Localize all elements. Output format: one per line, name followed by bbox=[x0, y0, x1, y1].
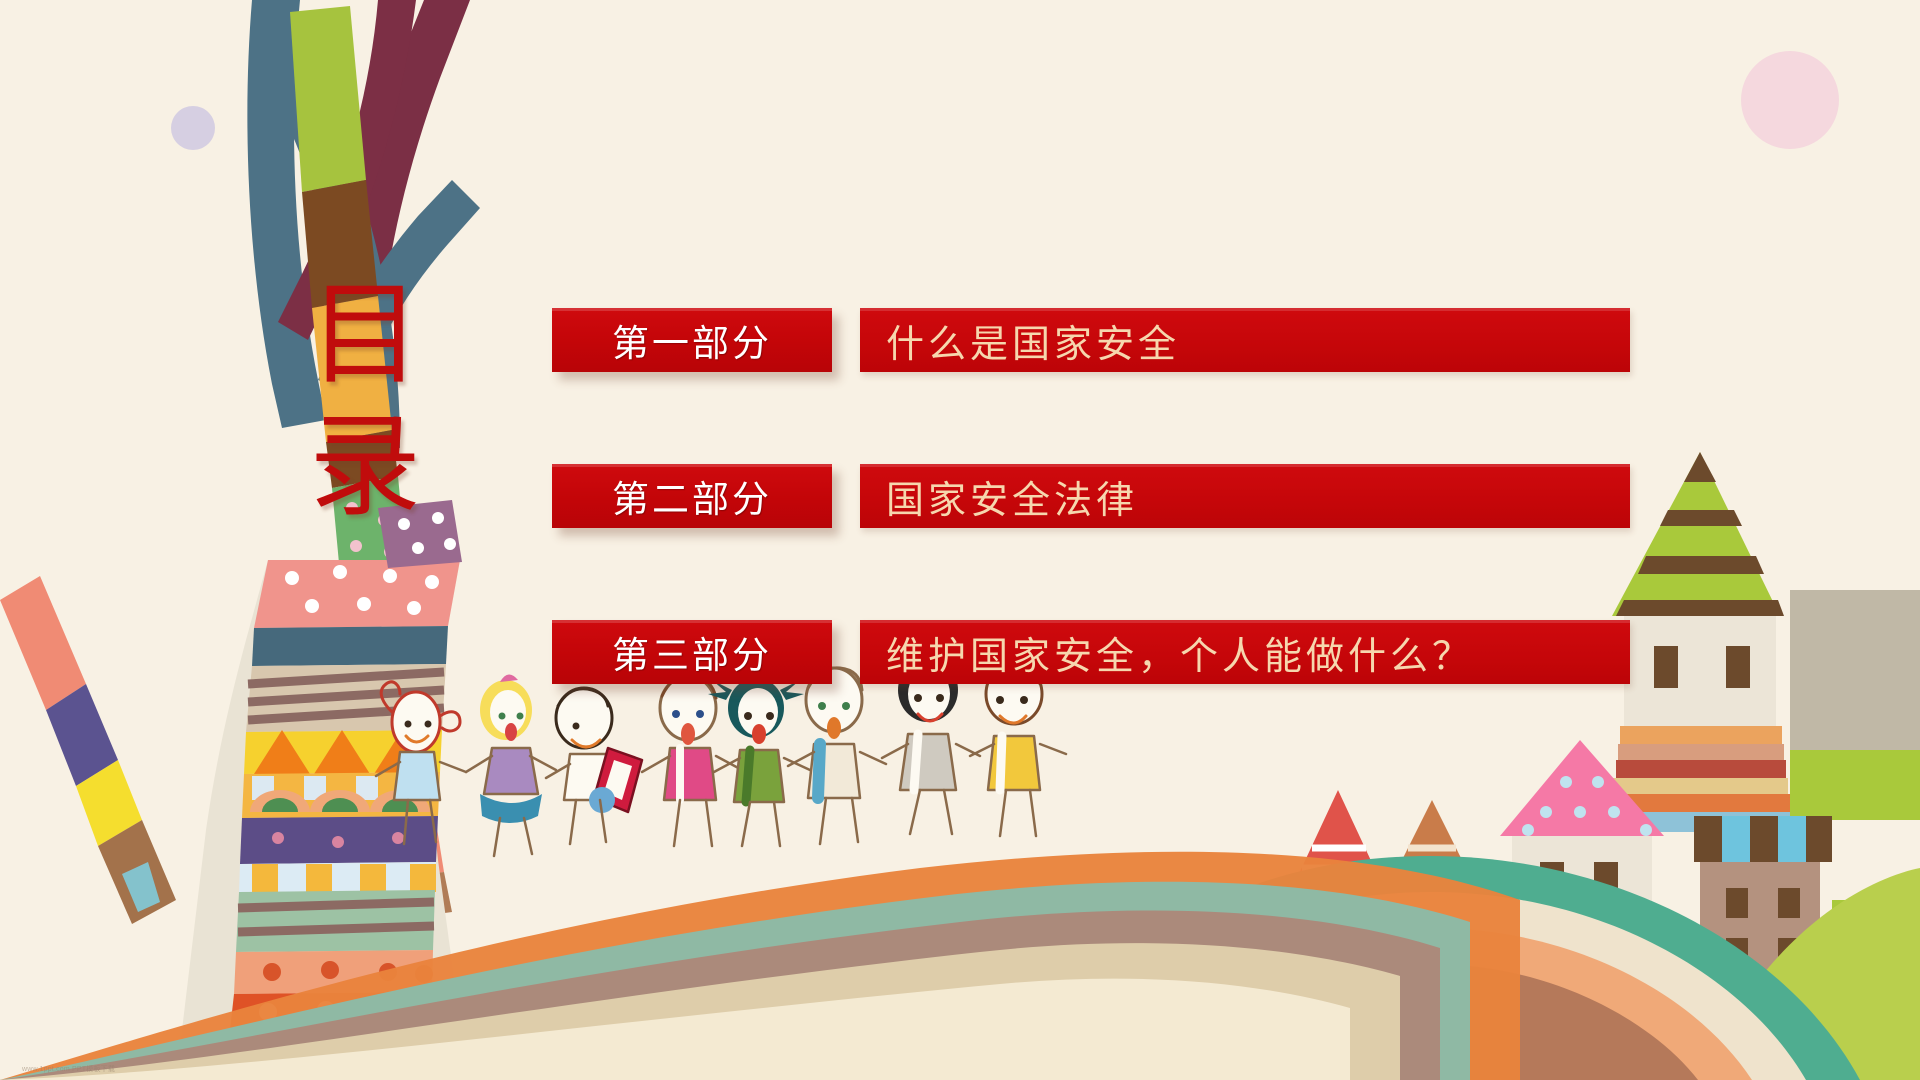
page-title: 目 录 bbox=[286, 270, 446, 534]
toc-label-2[interactable]: 国家安全法律 bbox=[860, 464, 1630, 528]
title-char-2: 录 bbox=[286, 402, 446, 534]
toc-label-3[interactable]: 维护国家安全，个人能做什么？ bbox=[860, 620, 1630, 684]
background-artwork bbox=[0, 0, 1920, 1080]
slide-canvas: 目 录 第一部分 什么是国家安全 第二部分 国家安全法律 第三部分 维护国家安全… bbox=[0, 0, 1920, 1080]
watermark-text: www.1ppt.com PPT模板下载 bbox=[22, 1064, 115, 1074]
toc-row-2[interactable]: 第二部分 国家安全法律 bbox=[552, 464, 1630, 528]
pink-circle bbox=[1741, 51, 1839, 149]
toc-row-3[interactable]: 第三部分 维护国家安全，个人能做什么？ bbox=[552, 620, 1630, 684]
toc-chip-3[interactable]: 第三部分 bbox=[552, 620, 832, 684]
title-char-1: 目 bbox=[286, 270, 446, 402]
lavender-circle bbox=[171, 106, 215, 150]
toc-label-1[interactable]: 什么是国家安全 bbox=[860, 308, 1630, 372]
toc-chip-2[interactable]: 第二部分 bbox=[552, 464, 832, 528]
toc-chip-1[interactable]: 第一部分 bbox=[552, 308, 832, 372]
toc-row-1[interactable]: 第一部分 什么是国家安全 bbox=[552, 308, 1630, 372]
